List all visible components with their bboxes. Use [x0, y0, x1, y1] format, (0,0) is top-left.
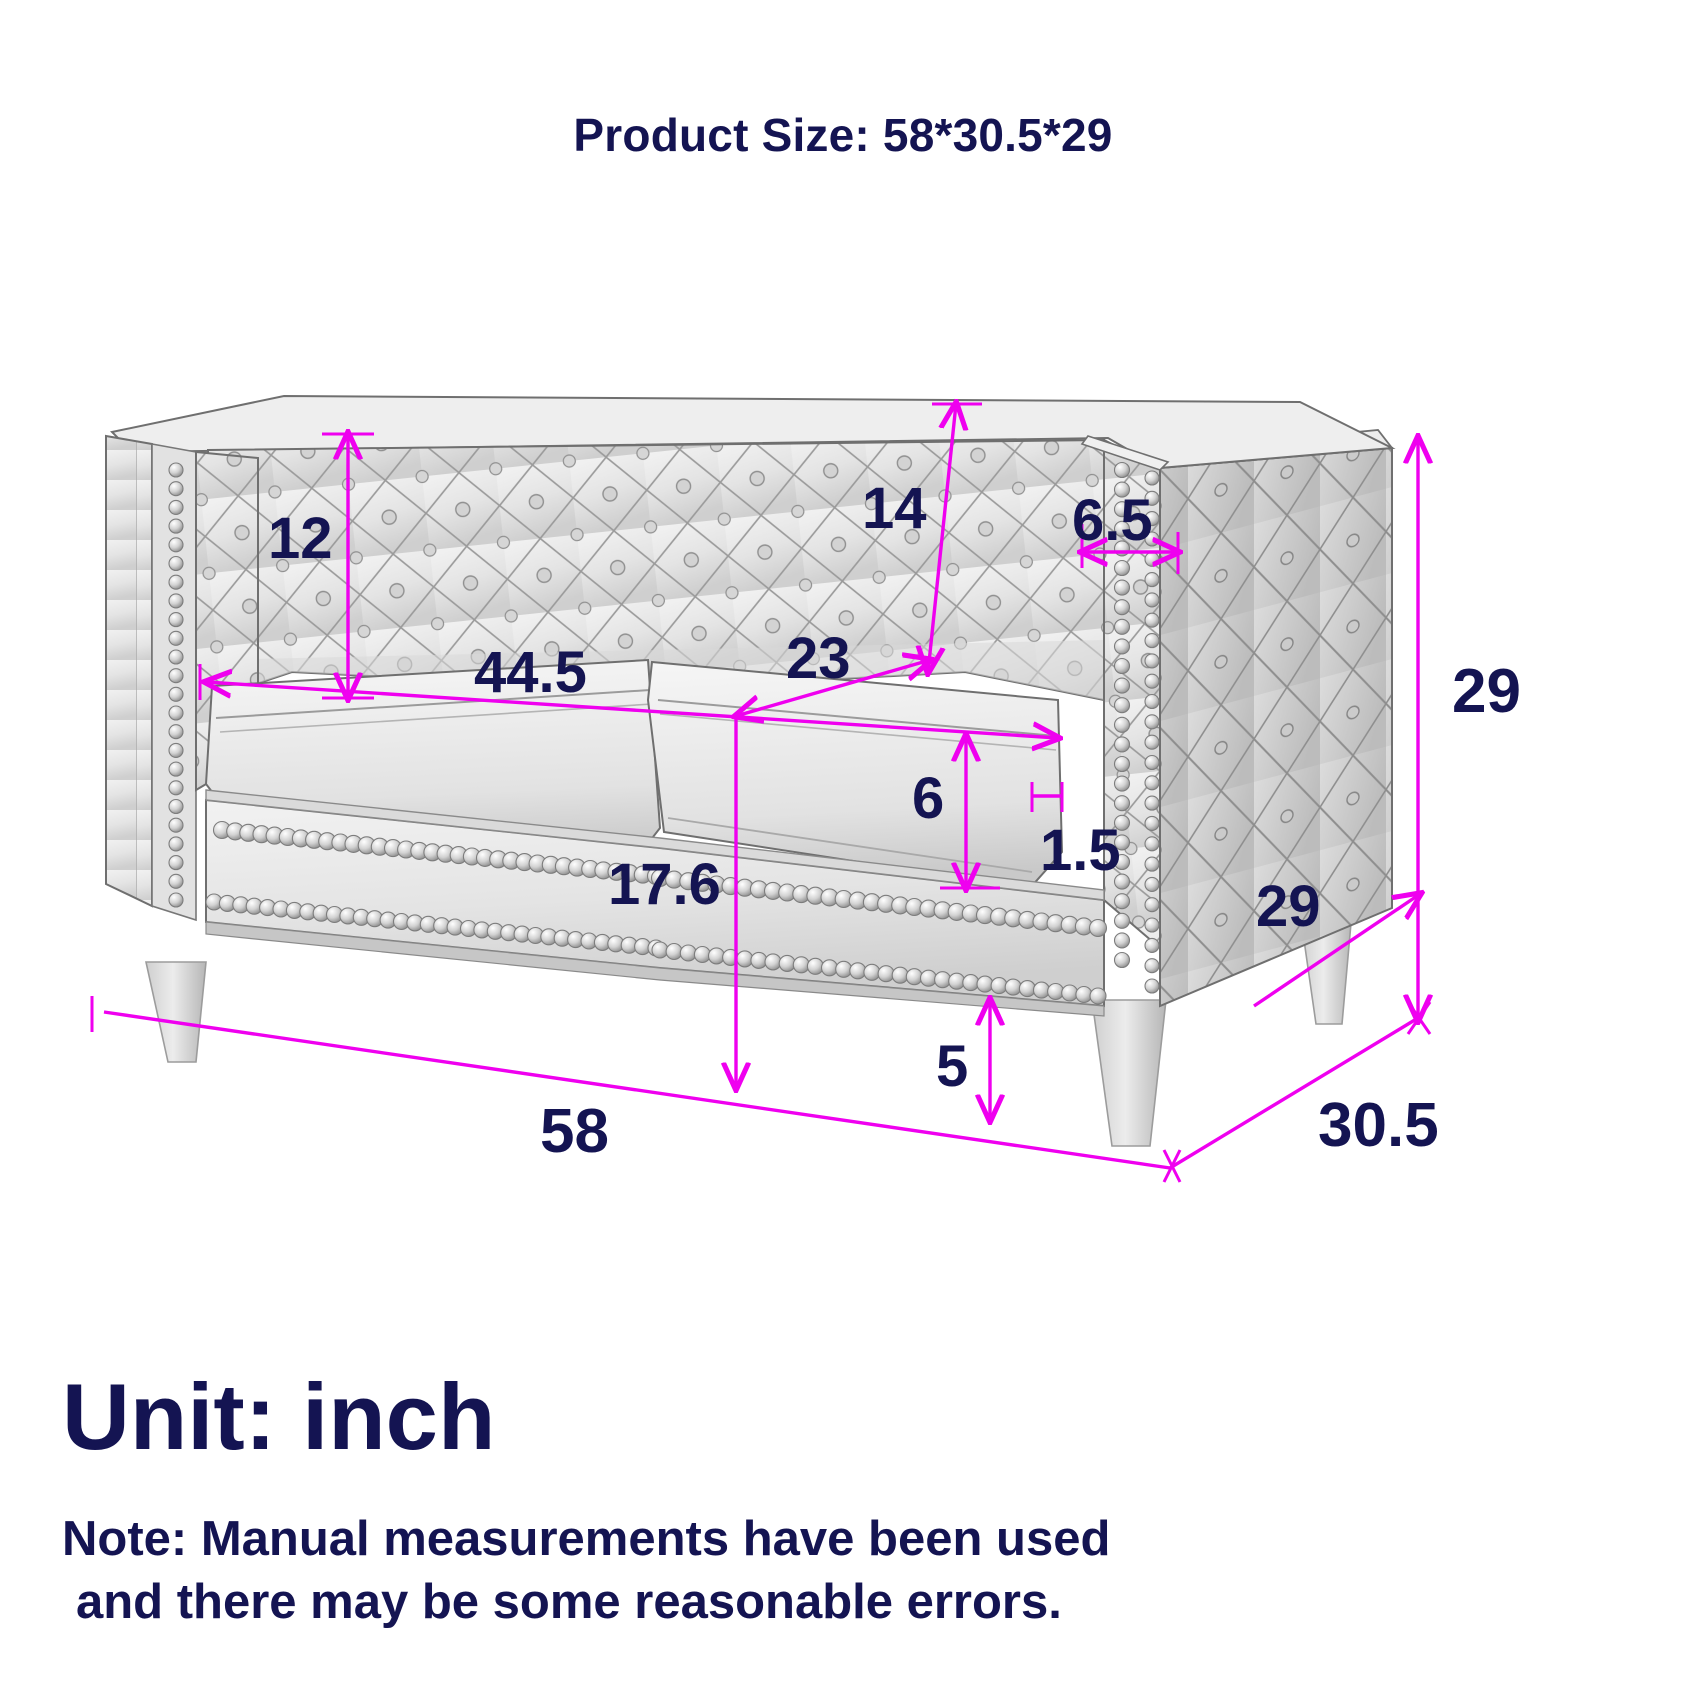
diagram-canvas: Product Size: 58*30.5*29: [0, 0, 1686, 1686]
dim-label-arm-width: 6.5: [1072, 488, 1153, 553]
dim-label-overall-height: 29: [1452, 657, 1521, 726]
dim-label-seat-height: 17.6: [608, 852, 721, 917]
note-line-2: and there may be some reasonable errors.: [62, 1571, 1292, 1634]
dim-label-side-depth-diagonal: 29: [1256, 874, 1321, 939]
dim-label-leg-height: 5: [936, 1034, 968, 1099]
dim-label-back-height-inner: 14: [862, 476, 927, 541]
note-line-1: Note: Manual measurements have been used: [62, 1508, 1292, 1571]
dim-label-welt-detail: 1.5: [1040, 818, 1121, 883]
dim-label-overall-depth: 30.5: [1318, 1091, 1439, 1160]
dim-label-back-cushion-height: 12: [268, 506, 333, 571]
sofa-left-outside-arm: [106, 436, 152, 906]
dim-label-cushion-thickness: 6: [912, 766, 944, 831]
unit-label: Unit: inch: [62, 1370, 495, 1464]
dim-label-seat-depth: 23: [786, 626, 851, 691]
measurement-note: Note: Manual measurements have been used…: [62, 1508, 1292, 1633]
dim-label-overall-width: 58: [540, 1097, 609, 1166]
dim-label-seat-width: 44.5: [474, 640, 587, 705]
